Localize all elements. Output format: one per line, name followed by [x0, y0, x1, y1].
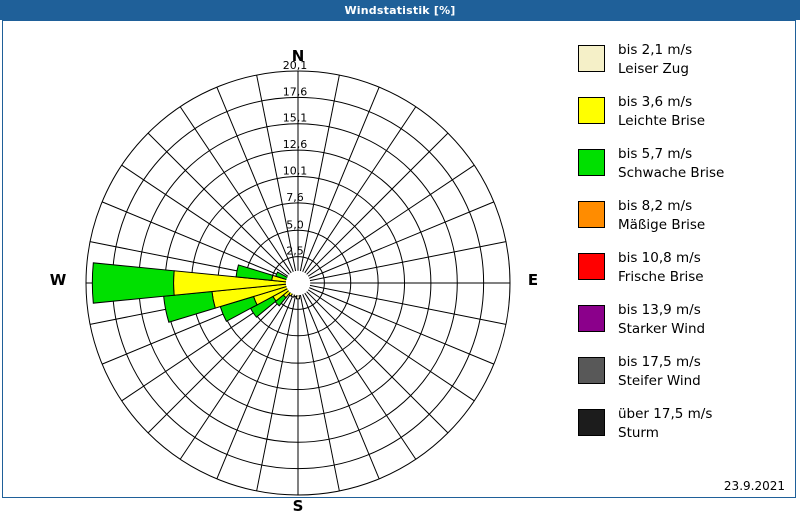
grid-spoke	[148, 133, 289, 274]
grid-spoke	[310, 285, 506, 324]
legend-item: bis 10,8 m/sFrische Brise	[578, 249, 793, 294]
radial-tick-labels: 2,55,07,610,112,615,117,620,1	[283, 59, 308, 258]
radial-tick-label: 10,1	[283, 164, 308, 177]
wind-rose-window: Windstatistik [%] 2,55,07,610,112,615,11…	[0, 0, 800, 500]
wind-rose-segment	[92, 263, 174, 303]
legend-label: bis 3,6 m/sLeichte Brise	[618, 93, 705, 131]
radial-tick-label: 12,6	[283, 138, 308, 151]
legend-speed-label: bis 17,5 m/s	[618, 353, 701, 372]
legend-speed-label: bis 13,9 m/s	[618, 301, 705, 320]
legend-name-label: Starker Wind	[618, 320, 705, 339]
grid-spoke	[257, 295, 296, 491]
legend-name-label: Leiser Zug	[618, 60, 692, 79]
wind-rose-plot: 2,55,07,610,112,615,117,620,1 N S W E	[3, 21, 563, 497]
legend-speed-label: bis 3,6 m/s	[618, 93, 705, 112]
legend-item: bis 13,9 m/sStarker Wind	[578, 301, 793, 346]
compass-label-west: W	[28, 273, 88, 288]
legend-color-swatch	[578, 97, 605, 124]
radial-tick-label: 7,6	[286, 191, 304, 204]
legend-name-label: Sturm	[618, 424, 712, 443]
legend-color-swatch	[578, 45, 605, 72]
legend-color-swatch	[578, 149, 605, 176]
legend-label: bis 5,7 m/sSchwache Brise	[618, 145, 724, 183]
legend-label: über 17,5 m/sSturm	[618, 405, 712, 443]
legend-speed-label: über 17,5 m/s	[618, 405, 712, 424]
calm-circle	[286, 271, 310, 295]
legend-label: bis 13,9 m/sStarker Wind	[618, 301, 705, 339]
legend-item: bis 8,2 m/sMäßige Brise	[578, 197, 793, 242]
grid-spoke	[310, 242, 506, 281]
radial-tick-label: 17,6	[283, 85, 308, 98]
legend-label: bis 2,1 m/sLeiser Zug	[618, 41, 692, 79]
legend-color-swatch	[578, 201, 605, 228]
compass-label-east: E	[503, 273, 563, 288]
legend-item: bis 2,1 m/sLeiser Zug	[578, 41, 793, 86]
compass-label-north: N	[268, 49, 328, 64]
wind-rose-svg: 2,55,07,610,112,615,117,620,1	[3, 21, 563, 497]
grid-spoke	[307, 292, 448, 433]
legend-color-swatch	[578, 253, 605, 280]
grid-spoke	[300, 295, 339, 491]
compass-label-south: S	[268, 499, 328, 514]
legend-name-label: Schwache Brise	[618, 164, 724, 183]
legend-name-label: Leichte Brise	[618, 112, 705, 131]
legend-speed-label: bis 8,2 m/s	[618, 197, 705, 216]
legend-label: bis 10,8 m/sFrische Brise	[618, 249, 704, 287]
radial-tick-label: 15,1	[283, 112, 308, 125]
footer-date: 23.9.2021	[724, 479, 785, 493]
legend: bis 2,1 m/sLeiser Zugbis 3,6 m/sLeichte …	[578, 41, 793, 457]
legend-name-label: Frische Brise	[618, 268, 704, 287]
radial-tick-label: 2,5	[286, 245, 304, 258]
legend-speed-label: bis 2,1 m/s	[618, 41, 692, 60]
wind-rose-segment	[164, 291, 216, 322]
legend-label: bis 17,5 m/sSteifer Wind	[618, 353, 701, 391]
legend-color-swatch	[578, 409, 605, 436]
window-title-bar: Windstatistik [%]	[0, 0, 800, 20]
legend-color-swatch	[578, 305, 605, 332]
legend-item: bis 17,5 m/sSteifer Wind	[578, 353, 793, 398]
legend-speed-label: bis 10,8 m/s	[618, 249, 704, 268]
wind-rose-petals	[92, 263, 299, 322]
legend-name-label: Steifer Wind	[618, 372, 701, 391]
legend-speed-label: bis 5,7 m/s	[618, 145, 724, 164]
grid-spoke	[307, 133, 448, 274]
legend-item: bis 5,7 m/sSchwache Brise	[578, 145, 793, 190]
legend-label: bis 8,2 m/sMäßige Brise	[618, 197, 705, 235]
calm-center-disc	[286, 271, 310, 295]
legend-item: bis 3,6 m/sLeichte Brise	[578, 93, 793, 138]
legend-color-swatch	[578, 357, 605, 384]
legend-item: über 17,5 m/sSturm	[578, 405, 793, 450]
radial-tick-label: 5,0	[286, 218, 304, 231]
legend-name-label: Mäßige Brise	[618, 216, 705, 235]
window-title: Windstatistik [%]	[344, 4, 455, 17]
window-client-area: 2,55,07,610,112,615,117,620,1 N S W E bi…	[2, 20, 796, 498]
